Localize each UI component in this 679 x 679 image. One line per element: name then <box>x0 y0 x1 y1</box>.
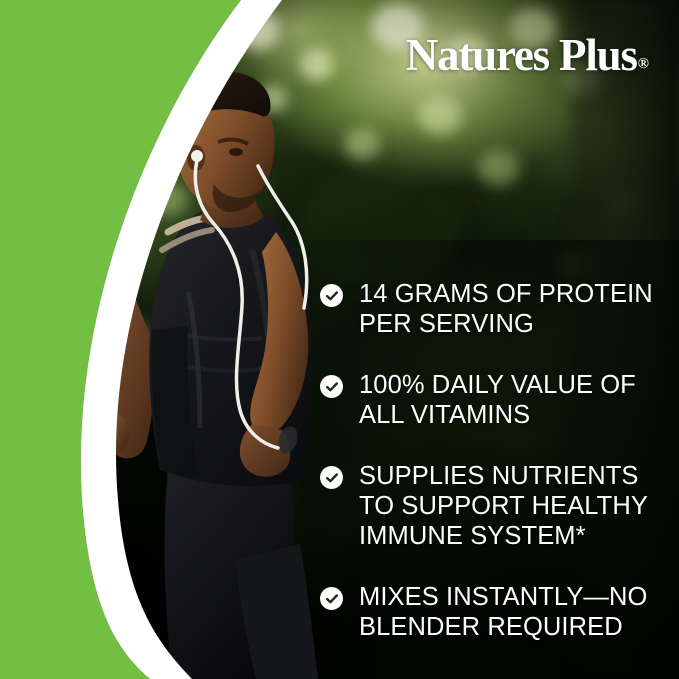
feature-item-label: MIXES INSTANTLY—NO BLENDER REQUIRED <box>359 582 647 642</box>
check-circle-icon <box>320 587 343 610</box>
check-circle-icon <box>320 466 343 489</box>
feature-item-daily-value: 100% DAILY VALUE OF ALL VITAMINS <box>320 370 660 430</box>
feature-item-protein: 14 GRAMS OF PROTEIN PER SERVING <box>320 279 660 339</box>
brand-logo: Natures Plus® <box>406 33 649 78</box>
check-circle-icon <box>320 284 343 307</box>
feature-item-mixes: MIXES INSTANTLY—NO BLENDER REQUIRED <box>320 582 660 642</box>
feature-item-immune: SUPPLIES NUTRIENTS TO SUPPORT HEALTHY IM… <box>320 461 660 551</box>
check-circle-icon <box>320 375 343 398</box>
feature-item-label: 14 GRAMS OF PROTEIN PER SERVING <box>359 279 653 339</box>
product-feature-banner: Natures Plus® 14 GRAMS OF PROTEIN PER SE… <box>0 0 679 679</box>
feature-list: 14 GRAMS OF PROTEIN PER SERVING 100% DAI… <box>320 279 660 642</box>
feature-item-label: SUPPLIES NUTRIENTS TO SUPPORT HEALTHY IM… <box>359 461 648 551</box>
registered-trademark-icon: ® <box>638 56 649 72</box>
brand-logo-text: Natures Plus <box>406 30 637 80</box>
feature-item-label: 100% DAILY VALUE OF ALL VITAMINS <box>359 370 636 430</box>
